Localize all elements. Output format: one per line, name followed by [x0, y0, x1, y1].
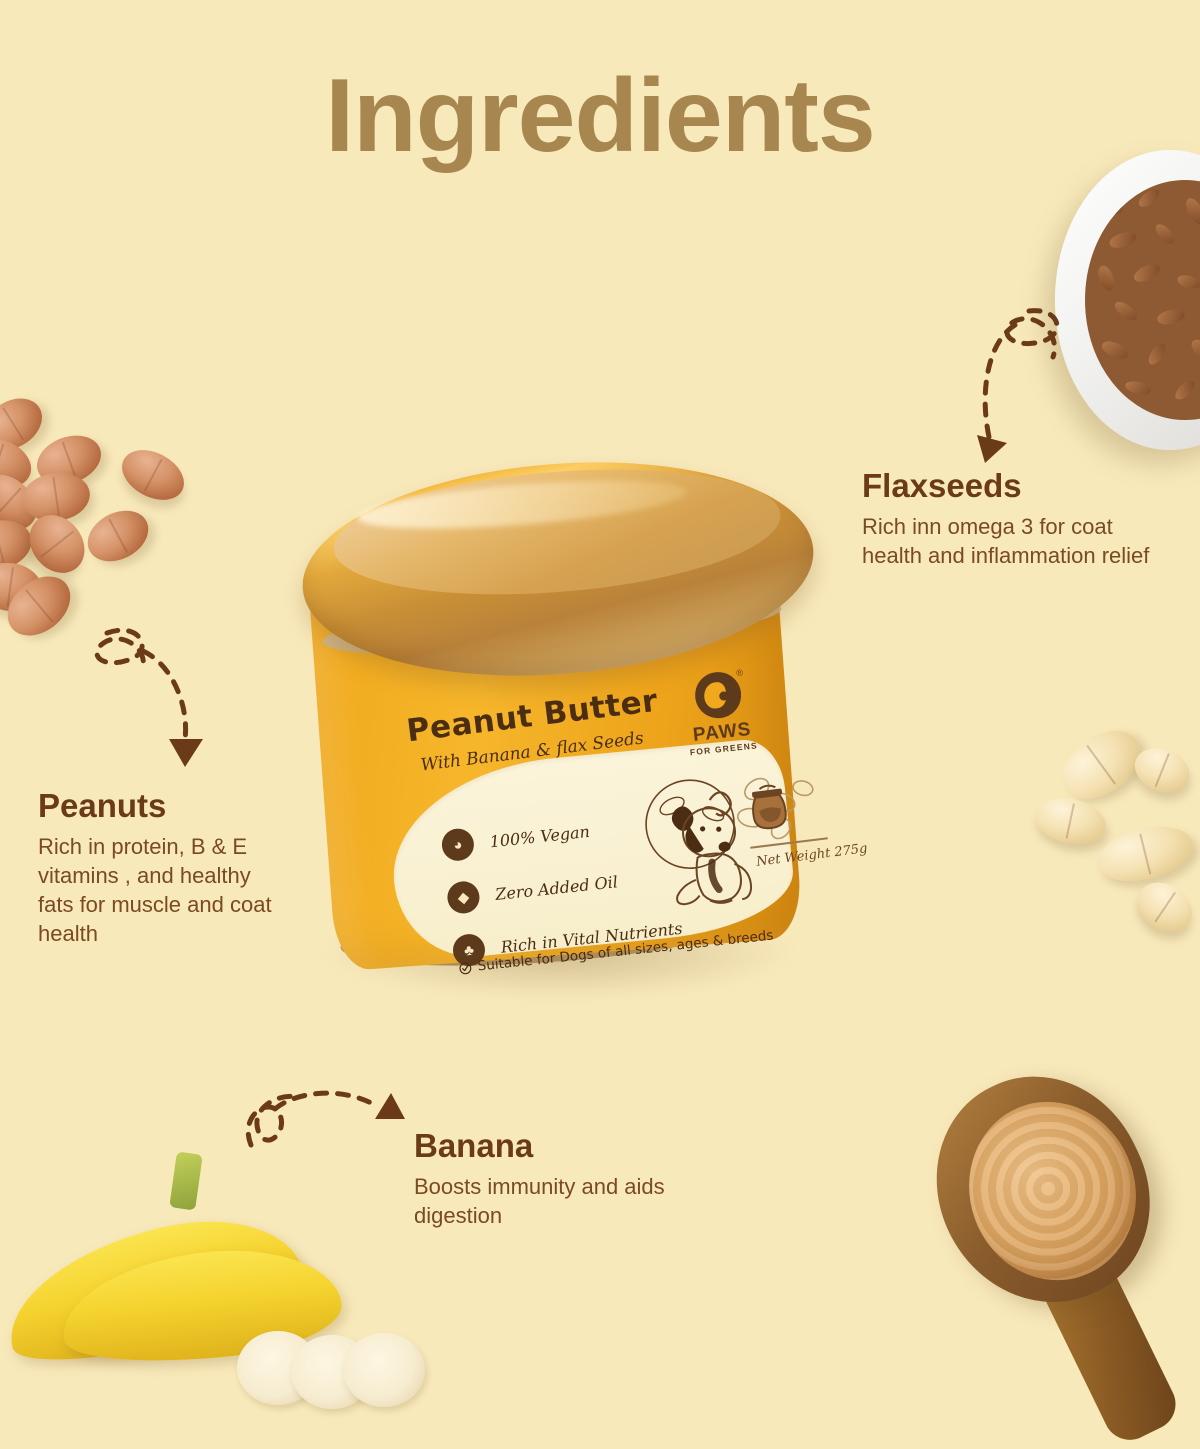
- lid-top-face: [329, 455, 785, 610]
- oil-drop-icon: ◆: [446, 880, 481, 915]
- peanuts-photo: [0, 395, 185, 645]
- feature-label: Zero Added Oil: [494, 872, 618, 904]
- product-jar: Peanut Butter With Banana & flax Seeds ®…: [288, 450, 828, 1010]
- vegan-bowl-icon: ◕: [440, 827, 475, 862]
- registered-mark: ®: [736, 667, 744, 678]
- callout-heading: Flaxseeds: [862, 468, 1172, 504]
- callout-banana: Banana Boosts immunity and aids digestio…: [414, 1128, 714, 1230]
- callout-body: Rich inn omega 3 for coat health and inf…: [862, 512, 1172, 570]
- brand-logo: ® PAWS FOR GREENS: [682, 669, 758, 758]
- callout-heading: Peanuts: [38, 788, 288, 824]
- blanched-peanuts-photo: [1040, 745, 1200, 940]
- curly-dashed-arrow-icon: [955, 285, 1085, 485]
- jar-icon: [737, 777, 804, 842]
- callout-heading: Banana: [414, 1128, 714, 1164]
- check-circle-icon: [458, 961, 472, 975]
- paw-leaf-emblem-icon: ®: [693, 670, 744, 721]
- callout-flaxseeds: Flaxseeds Rich inn omega 3 for coat heal…: [862, 468, 1172, 570]
- callout-body: Boosts immunity and aids digestion: [414, 1172, 714, 1230]
- callout-peanuts: Peanuts Rich in protein, B & E vitamins …: [38, 788, 288, 948]
- callout-body: Rich in protein, B & E vitamins , and he…: [38, 832, 288, 948]
- page-title: Ingredients: [0, 62, 1200, 171]
- peanut-butter-spoon-photo: [930, 1065, 1200, 1410]
- poster-canvas: Ingredients: [0, 0, 1200, 1400]
- feature-label: 100% Vegan: [489, 821, 591, 850]
- curly-dashed-arrow-icon: [85, 615, 225, 785]
- curly-dashed-arrow-icon: [235, 1075, 415, 1195]
